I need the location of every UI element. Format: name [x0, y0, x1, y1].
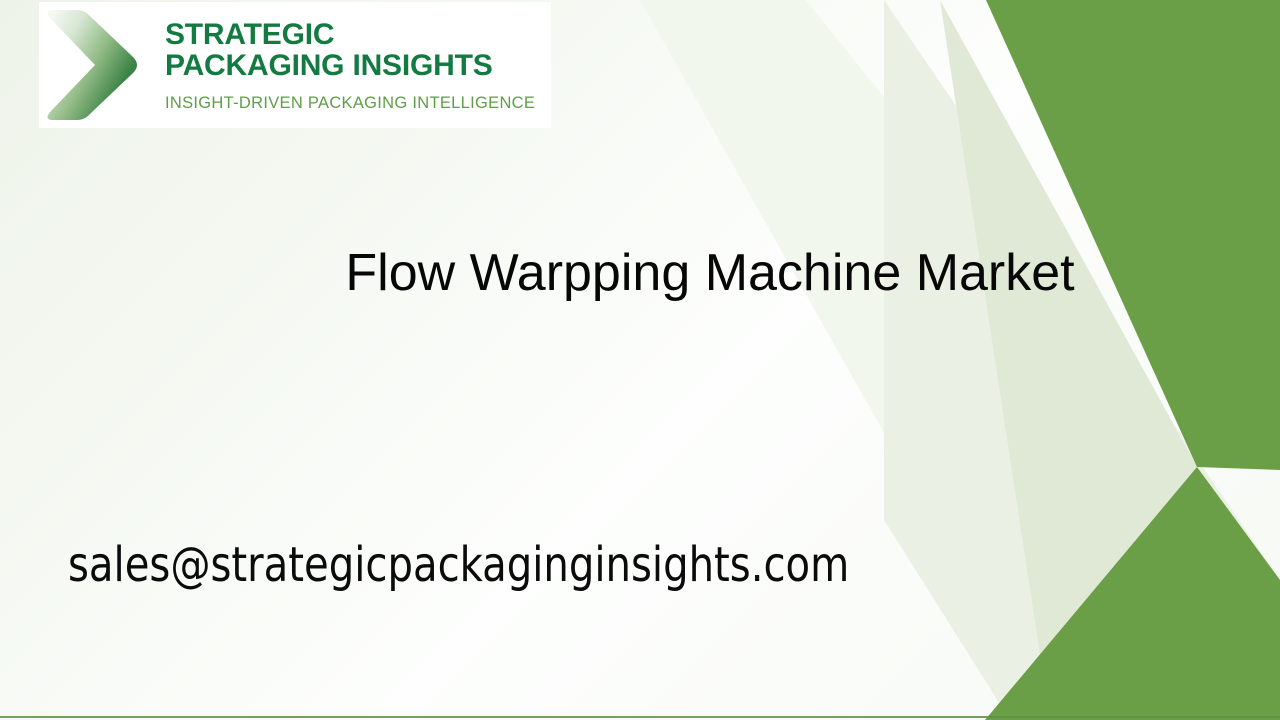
pale-band-inner	[940, 0, 1280, 720]
brand-tagline: INSIGHT-DRIVEN PACKAGING INTELLIGENCE	[165, 94, 535, 112]
pale-band-outer	[884, 0, 1280, 720]
bottom-rule-divider	[0, 716, 1280, 718]
brand-logo-wordmark: STRATEGIC PACKAGING INSIGHTS INSIGHT-DRI…	[165, 19, 535, 112]
pale-band-highlight	[640, 0, 1280, 720]
contact-email-address[interactable]: sales@strategicpackaginginsights.com	[68, 535, 998, 595]
presentation-slide: STRATEGIC PACKAGING INSIGHTS INSIGHT-DRI…	[0, 0, 1280, 720]
deco-band-group	[640, 0, 1280, 720]
green-wedge-top	[986, 0, 1280, 470]
title-block: Flow Warpping Machine Market	[240, 248, 1180, 298]
slide-title: Flow Warpping Machine Market	[240, 248, 1180, 298]
chevron-arrow-mark-icon	[41, 4, 145, 126]
brand-name-line-2: PACKAGING INSIGHTS	[165, 50, 535, 81]
brand-logo: STRATEGIC PACKAGING INSIGHTS INSIGHT-DRI…	[39, 2, 551, 128]
brand-name-line-1: STRATEGIC	[165, 19, 535, 50]
contact-block: sales@strategicpackaginginsights.com	[68, 535, 1068, 595]
